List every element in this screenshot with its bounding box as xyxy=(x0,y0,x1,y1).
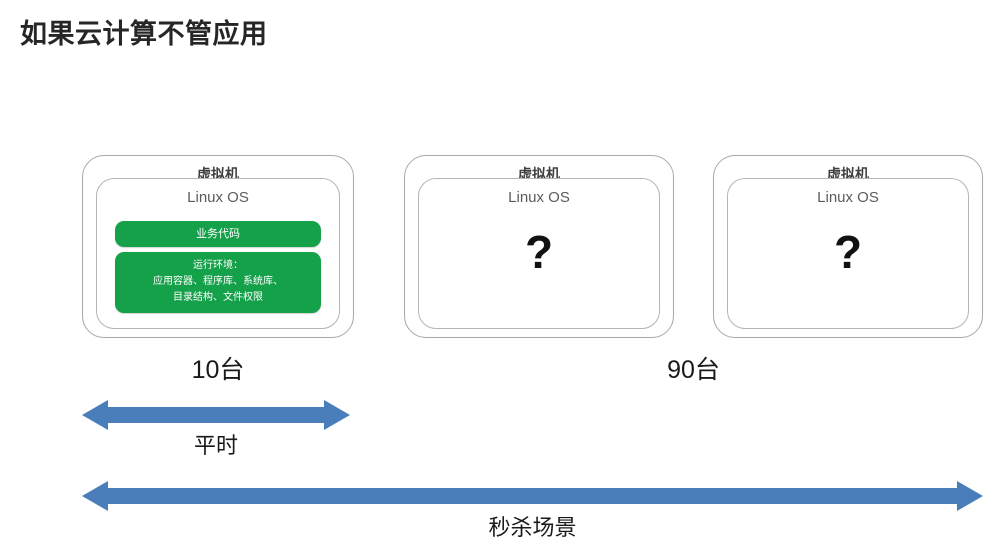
runtime-line-2: 应用容器、程序库、系统库、 xyxy=(115,274,321,290)
arrow-caption-peak: 秒杀场景 xyxy=(82,510,983,542)
arrow-caption-normal: 平时 xyxy=(82,428,350,460)
runtime-line-3: 目录结构、文件权限 xyxy=(115,290,321,306)
slide-canvas: 如果云计算不管应用 虚拟机 Linux OS 业务代码 运行环境： 应用容器、程… xyxy=(0,0,1000,560)
os-label-2: Linux OS xyxy=(419,189,659,206)
double-arrow-icon-normal xyxy=(82,398,350,432)
vm-inner-3: Linux OS ? xyxy=(727,178,969,329)
question-mark-icon-2: ? xyxy=(419,229,659,275)
vm-card-1: 虚拟机 Linux OS 业务代码 运行环境： 应用容器、程序库、系统库、 目录… xyxy=(82,155,354,338)
vm-inner-2: Linux OS ? xyxy=(418,178,660,329)
page-title: 如果云计算不管应用 xyxy=(20,12,268,51)
count-label-peak: 90台 xyxy=(404,350,983,386)
vm-card-2: 虚拟机 Linux OS ? xyxy=(404,155,674,338)
double-arrow-icon-peak xyxy=(82,479,983,513)
double-arrow-svg-peak xyxy=(82,479,983,513)
vm-card-3: 虚拟机 Linux OS ? xyxy=(713,155,983,338)
runtime-line-1: 运行环境： xyxy=(115,258,321,274)
os-label-1: Linux OS xyxy=(97,189,339,206)
vm-inner-1: Linux OS 业务代码 运行环境： 应用容器、程序库、系统库、 目录结构、文… xyxy=(96,178,340,329)
runtime-env-block: 运行环境： 应用容器、程序库、系统库、 目录结构、文件权限 xyxy=(115,252,321,313)
os-label-3: Linux OS xyxy=(728,189,968,206)
double-arrow-svg-normal xyxy=(82,398,350,432)
count-label-normal: 10台 xyxy=(82,350,354,386)
question-mark-icon-3: ? xyxy=(728,229,968,275)
app-code-block: 业务代码 xyxy=(115,221,321,247)
